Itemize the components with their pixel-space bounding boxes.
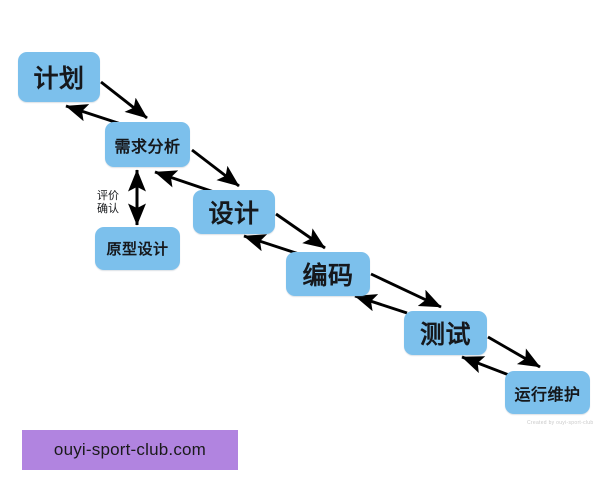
- node-coding-label: 编码: [302, 256, 353, 292]
- arrow-maintain-to-testing: [462, 357, 509, 375]
- arrow-plan-to-analysis: [101, 82, 147, 118]
- node-prototype-design-label: 原型设计: [106, 238, 168, 259]
- node-coding[interactable]: 编码: [286, 252, 370, 296]
- diagram-canvas: 计划 需求分析 原型设计 设计 编码 测试 运行维护 评价 确认 Created…: [0, 0, 600, 480]
- node-operation-maintenance[interactable]: 运行维护: [505, 371, 590, 414]
- node-plan-label: 计划: [33, 59, 84, 95]
- edge-label-evaluate-confirm: 评价 确认: [97, 190, 119, 216]
- node-design[interactable]: 设计: [193, 190, 275, 234]
- arrow-analysis-to-design: [192, 150, 239, 186]
- arrow-coding-to-design: [244, 236, 299, 254]
- node-testing[interactable]: 测试: [404, 311, 487, 355]
- node-prototype-design[interactable]: 原型设计: [95, 227, 180, 270]
- edge-label-line-1: 评价: [97, 190, 119, 203]
- watermark-banner: ouyi-sport-club.com: [22, 430, 238, 470]
- arrow-testing-to-coding: [355, 296, 407, 313]
- corner-watermark: Created by ouyi-sport-club: [527, 420, 593, 426]
- node-requirement-analysis-label: 需求分析: [114, 133, 180, 157]
- arrow-design-to-analysis: [155, 172, 214, 192]
- watermark-banner-text: ouyi-sport-club.com: [54, 440, 206, 460]
- arrow-coding-to-testing: [371, 274, 441, 307]
- arrow-testing-to-maintain: [488, 337, 540, 367]
- node-design-label: 设计: [208, 194, 259, 230]
- edge-label-line-2: 确认: [97, 203, 119, 216]
- node-requirement-analysis[interactable]: 需求分析: [105, 122, 190, 167]
- arrow-design-to-coding: [276, 214, 325, 248]
- node-operation-maintenance-label: 运行维护: [514, 381, 580, 405]
- node-testing-label: 测试: [420, 315, 471, 351]
- node-plan[interactable]: 计划: [18, 52, 100, 102]
